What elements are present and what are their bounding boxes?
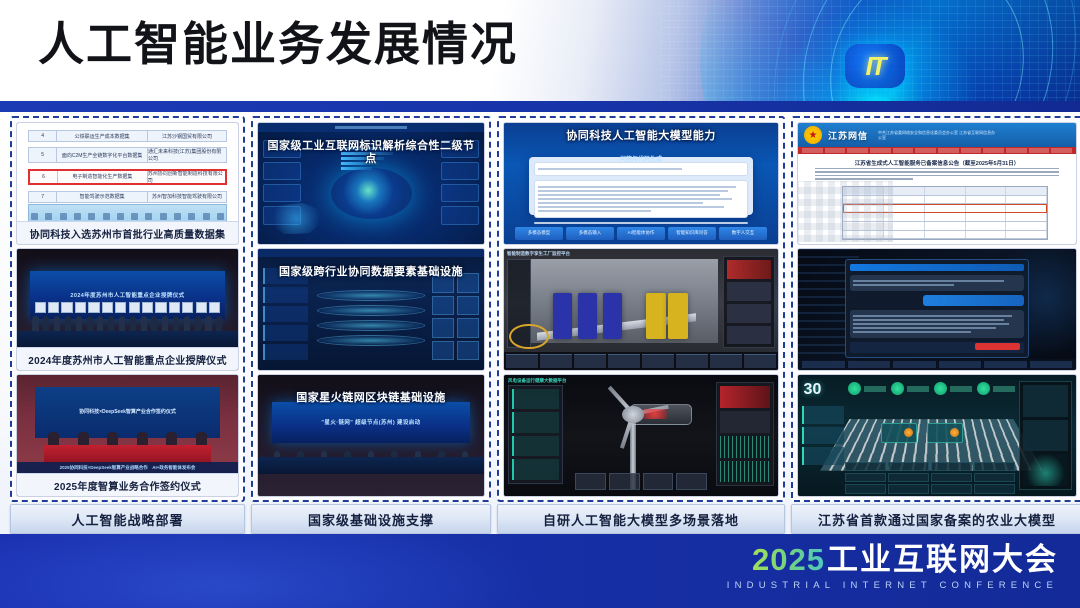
dashboard-left-metrics: [263, 268, 308, 360]
table-row: 7 智能驾驶示范数据集 苏州智加科技智能驾驶有限公司: [28, 191, 227, 203]
stage-led-screen: "星火·链网" 超级节点(苏州) 建设启动: [272, 402, 471, 443]
footer-glow: [0, 534, 540, 608]
robot-arm: [578, 293, 597, 339]
kpi-icon: [934, 382, 947, 395]
caption-ai-strategy: 人工智能战略部署: [10, 504, 245, 534]
table-cell-no: 7: [29, 192, 57, 202]
greenhouse-left-panel: [802, 406, 844, 464]
signing-backdrop: 协同科技×DeepSeek智算产业合作签约仪式: [35, 387, 221, 438]
table-cell-name: 公铁联运生产成本数据集: [57, 131, 148, 141]
chat-bubble-assistant: [534, 180, 749, 218]
chat-input-field[interactable]: [534, 222, 749, 224]
factory-bottom-strip: [504, 352, 778, 370]
llm-button[interactable]: 数字人交互: [719, 227, 767, 240]
kpi-bar: [993, 386, 1015, 392]
kpi-bar: [950, 386, 972, 392]
dashboard-right-thumbnails: [432, 273, 479, 360]
robot-arm: [668, 293, 687, 339]
panel-overlay-title: 国家星火链网区块链基础设施: [258, 392, 484, 405]
identity-resolution-node-panel[interactable]: 国家级工业互联网标识解析综合性二级节点: [258, 123, 484, 244]
column-ai-strategy: 4 公铁联运生产成本数据集 江苏沙钢国贸有限公司 5 面向C2M生产全链数字化平…: [10, 116, 245, 502]
llm-button[interactable]: 多模态模型: [515, 227, 563, 240]
kpi-bar: [864, 386, 886, 392]
bottom-toolbar: [798, 359, 1076, 370]
wind-left-panel: [508, 385, 563, 484]
table-row: 4 公铁联运生产成本数据集 江苏沙钢国贸有限公司: [28, 130, 227, 142]
panel-overlay-title: 国家级跨行业协同数据要素基础设施: [258, 266, 484, 279]
greenhouse-dashboard-shot: 30: [798, 375, 1076, 496]
wind-dashboard-shot: 风电设备运行健康大数据平台: [504, 375, 778, 496]
send-button[interactable]: [975, 343, 1020, 350]
signing-ceremony-panel[interactable]: 协同科技×DeepSeek智算产业合作签约仪式 2025协同科技×DeepSee…: [17, 375, 238, 496]
panel-caption: 协同科技入选苏州市首批行业高质量数据集: [17, 221, 238, 244]
robot-arm: [603, 293, 622, 339]
industrial-internet-logo-icon: IT: [842, 42, 908, 90]
conference-logo-line1: 2025 工业互联网大会: [727, 544, 1058, 575]
gov-watermark: [798, 181, 893, 242]
llm-capability-panel[interactable]: 问答与代码生成 多模态模型 多模态输入 AI智能体: [504, 123, 778, 244]
conference-name-cn: 工业互联网大会: [827, 544, 1058, 575]
panel-caption: 2024年度苏州市人工智能重点企业授牌仪式: [17, 347, 238, 370]
stage-floor: [17, 331, 238, 348]
gov-filing-announcement-panel[interactable]: ★ 江苏网信 中共江苏省委网络安全和信息化委员会办公室 江苏省互联网信息办公室 …: [798, 123, 1076, 244]
factory-right-panel: [723, 256, 775, 348]
factory-dashboard-shot: 智能制造数字孪生工厂监控平台: [504, 249, 778, 370]
chat-dialog: [845, 259, 1029, 358]
wind-right-panel: [716, 382, 774, 486]
greenhouse-right-panel: [1019, 381, 1072, 490]
llm-subtitle: 问答与代码生成: [504, 154, 778, 163]
gov-site-subtitle: 中共江苏省委网络安全和信息化委员会办公室 江苏省互联网信息办公室: [878, 130, 998, 140]
robot-arm: [553, 293, 572, 339]
smart-greenhouse-dashboard-panel[interactable]: 30: [798, 375, 1076, 496]
panel-overlay-title: 协同科技人工智能大模型能力: [504, 130, 778, 143]
agri-chat-shot: [798, 249, 1076, 370]
chat-dialog-titlebar: [850, 264, 1024, 271]
panel-overlay-title: 国家级工业互联网标识解析综合性二级节点: [258, 140, 484, 166]
kpi-icon: [891, 382, 904, 395]
greenhouse-sensor-grid: [845, 462, 1015, 493]
kpi-icon: [977, 382, 990, 395]
chat-bubble-user: [923, 295, 1024, 306]
greenhouse-zone-tags: [881, 423, 963, 443]
greenhouse-big-number: 30: [804, 381, 822, 399]
kpi-icon: [848, 382, 861, 395]
chat-bubble-assistant-long: [850, 310, 1024, 338]
caption-self-developed-llm: 自研人工智能大模型多场景落地: [497, 504, 785, 534]
slide-root: IT 人工智能业务发展情况 4 公铁联运生产成本数据集 江苏沙钢国贸有限公司 5: [0, 0, 1080, 608]
band-cells-row: [31, 213, 224, 220]
column-self-developed-llm: 问答与代码生成 多模态模型 多模态输入 AI智能体: [497, 116, 785, 502]
header-accent-bar: [0, 101, 1080, 112]
announcement-body-lines: [815, 168, 1060, 180]
kpi-bar: [907, 386, 929, 392]
dashboard-topbar: [258, 123, 484, 132]
ai-award-ceremony-panel[interactable]: 2024年度苏州市人工智能重点企业授牌仪式 2024年度苏州市人工智能重点企业授…: [17, 249, 238, 370]
column-agriculture-llm: ★ 江苏网信 中共江苏省委网络安全和信息化委员会办公室 江苏省互联网信息办公室 …: [791, 116, 1080, 502]
gov-site-name: 江苏网信: [828, 129, 868, 142]
table-cell-name: 智能驾驶示范数据集: [57, 192, 148, 202]
kpi-item: [848, 382, 886, 395]
panel-caption: 2025年度智算业务合作签约仪式: [17, 473, 238, 496]
llm-button[interactable]: AI智能体协作: [617, 227, 665, 240]
factory-gauge-icon: [509, 324, 549, 350]
table-cell-name: 电子制造智能化生产数据集: [58, 171, 148, 183]
gov-site-header: ★ 江苏网信 中共江苏省委网络安全和信息化委员会办公室 江苏省互联网信息办公室: [798, 123, 1076, 147]
blockchain-infrastructure-panel[interactable]: "星火·链网" 超级节点(苏州) 建设启动 国家星火链网区块链基础设施: [258, 375, 484, 496]
stage-screen-text: 2024年度苏州市人工智能重点企业授牌仪式: [66, 291, 188, 299]
table-row: 5 面向C2M生产全链数字化平台数据集 通汇未来科技(江苏)集团股份有限公司: [28, 147, 227, 163]
conference-year: 2025: [752, 544, 825, 575]
data-layer-stack-graphic: [317, 290, 426, 358]
stage-floor: [258, 457, 484, 474]
llm-button[interactable]: 多模态输入: [566, 227, 614, 240]
gov-site-navbar[interactable]: [798, 147, 1076, 154]
caption-national-infrastructure: 国家级基础设施支撑: [251, 504, 491, 534]
smart-factory-dashboard-panel[interactable]: 智能制造数字孪生工厂监控平台: [504, 249, 778, 370]
llm-button[interactable]: 智能知识库问答: [668, 227, 716, 240]
data-element-infrastructure-panel[interactable]: 国家级跨行业协同数据要素基础设施: [258, 249, 484, 370]
llm-chat-window: [529, 157, 754, 215]
award-plaques-row: [35, 302, 221, 313]
conference-name-en: INDUSTRIAL INTERNET CONFERENCE: [727, 581, 1058, 591]
dashboard-globe-graphic: [331, 168, 412, 219]
column-container: 4 公铁联运生产成本数据集 江苏沙钢国贸有限公司 5 面向C2M生产全链数字化平…: [10, 116, 1080, 502]
chat-bubble-assistant: [850, 275, 1024, 291]
conference-logo: 2025 工业互联网大会 INDUSTRIAL INTERNET CONFERE…: [727, 544, 1058, 591]
table-cell-no: 5: [29, 148, 57, 162]
party-emblem-icon: ★: [804, 126, 822, 144]
stage-screen-text: "星火·链网" 超级节点(苏州) 建设启动: [317, 418, 424, 426]
table-cell-org: 江苏沙钢国贸有限公司: [148, 131, 226, 141]
logo-letters: IT: [865, 51, 884, 82]
wind-turbine-dashboard-panel[interactable]: 风电设备运行健康大数据平台: [504, 375, 778, 496]
table-cell-org: 苏州智加科技智能驾驶有限公司: [148, 192, 226, 202]
agri-llm-chat-panel[interactable]: [798, 249, 1076, 370]
zone-tag: [927, 423, 963, 443]
signing-backdrop-text: 协同科技×DeepSeek智算产业合作签约仪式: [74, 409, 181, 417]
wind-bottom-cards: [575, 473, 707, 490]
chat-bubble-user: [534, 162, 749, 176]
table-cell-org: 通汇未来科技(江苏)集团股份有限公司: [148, 148, 226, 162]
gov-site-shot: ★ 江苏网信 中共江苏省委网络安全和信息化委员会办公室 江苏省互联网信息办公室 …: [798, 123, 1076, 244]
kpi-item: [977, 382, 1015, 395]
column-national-infrastructure: 国家级工业互联网标识解析综合性二级节点: [251, 116, 491, 502]
kpi-item: [891, 382, 929, 395]
chat-input-area[interactable]: [850, 342, 1024, 353]
content-board: 4 公铁联运生产成本数据集 江苏沙钢国贸有限公司 5 面向C2M生产全链数字化平…: [0, 112, 1080, 534]
dashboard-topbar: [258, 249, 484, 257]
dataset-table-panel[interactable]: 4 公铁联运生产成本数据集 江苏沙钢国贸有限公司 5 面向C2M生产全链数字化平…: [17, 123, 238, 244]
page-title: 人工智能业务发展情况: [38, 18, 518, 71]
announcement-title: 江苏省生成式人工智能服务已备案信息公告（截至2025年5月31日）: [820, 159, 1054, 167]
table-cell-no: 6: [30, 171, 58, 183]
slide-footer: 2025 工业互联网大会 INDUSTRIAL INTERNET CONFERE…: [0, 534, 1080, 608]
kpi-item: [934, 382, 972, 395]
table-cell-org: 苏州协同创新智能制造科技有限公司: [148, 171, 225, 183]
table-cell-name: 面向C2M生产全链数字化平台数据集: [57, 148, 148, 162]
llm-capability-buttons: 多模态模型 多模态输入 AI智能体协作 智能知识库问答 数字人交互: [515, 227, 767, 240]
greenhouse-kpi-row: [848, 382, 1015, 395]
table-cell-no: 4: [29, 131, 57, 141]
caption-row: 人工智能战略部署 国家级基础设施支撑 自研人工智能大模型多场景落地 江苏省首款通…: [10, 504, 1080, 534]
slide-header: IT 人工智能业务发展情况: [0, 0, 1080, 112]
robot-arm: [646, 293, 665, 339]
caption-agriculture-llm: 江苏省首款通过国家备案的农业大模型: [791, 504, 1080, 534]
factory-panel-header: 智能制造数字孪生工厂监控平台: [507, 251, 570, 257]
table-row-highlighted: 6 电子制造智能化生产数据集 苏州协同创新智能制造科技有限公司: [28, 169, 227, 185]
wind-panel-header: 风电设备运行健康大数据平台: [508, 378, 567, 384]
zone-tag: [881, 423, 917, 443]
